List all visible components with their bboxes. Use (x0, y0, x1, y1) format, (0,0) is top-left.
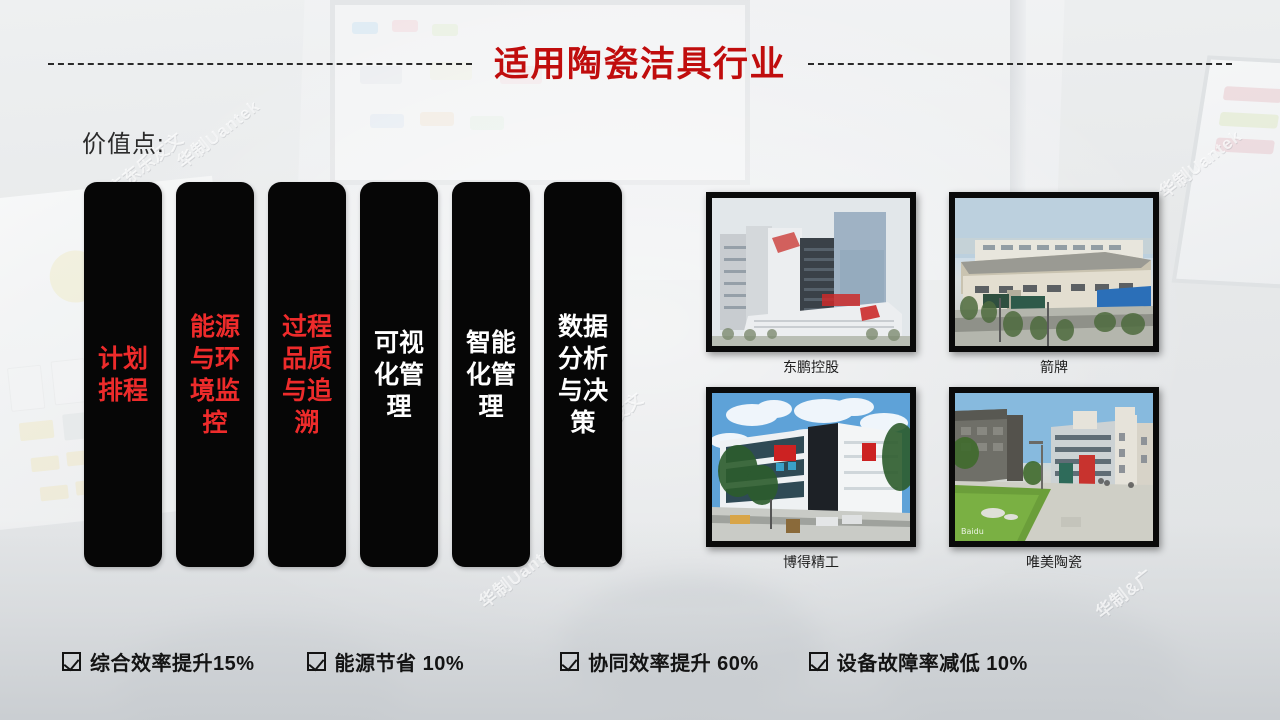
slide-root: 华制Uantek 广东乐友文 华制Uantek 广东乐友文 华制&广 华制Uan… (0, 0, 1280, 720)
value-pillar-list: 计划排程 能源与环境监控 过程品质与追溯 可视化管理 智能化管理 数据分析与决策 (84, 182, 644, 567)
customer-photo-caption: 箭牌 (949, 357, 1159, 377)
customer-photo-cell[interactable]: 博得精工 (706, 387, 916, 572)
benefits-row: 综合效率提升15% 能源节省 10% 协同效率提升 60% 设备故障率减低 10… (0, 647, 1280, 676)
check-icon[interactable] (560, 652, 579, 671)
benefit-item[interactable]: 能源节省 10% (307, 647, 465, 676)
header-rule-left (48, 63, 472, 65)
check-icon[interactable] (809, 652, 828, 671)
baidu-watermark: Baidu (961, 527, 984, 536)
benefit-label: 设备故障率减低 10% (837, 647, 1028, 676)
value-pillar[interactable]: 可视化管理 (360, 182, 438, 567)
benefit-item[interactable]: 综合效率提升15% (62, 647, 255, 676)
check-icon[interactable] (62, 652, 81, 671)
customer-photo-caption: 东鹏控股 (706, 357, 916, 377)
customer-photo-grid: 东鹏控股 (706, 192, 1168, 572)
benefit-item[interactable]: 设备故障率减低 10% (809, 647, 1028, 676)
benefit-item[interactable]: 协同效率提升 60% (560, 647, 759, 676)
customer-photo (949, 192, 1159, 352)
value-pillar[interactable]: 计划排程 (84, 182, 162, 567)
value-pillar-label: 可视化管理 (371, 327, 427, 423)
slide-header: 适用陶瓷洁具行业 (0, 36, 1280, 92)
customer-photo-caption: 博得精工 (706, 552, 916, 572)
customer-photo (706, 192, 916, 352)
benefit-label: 协同效率提升 60% (588, 647, 759, 676)
value-pillar[interactable]: 数据分析与决策 (544, 182, 622, 567)
value-pillar-label: 能源与环境监控 (187, 311, 243, 439)
benefit-label: 综合效率提升15% (90, 647, 255, 676)
customer-photo-caption: 唯美陶瓷 (949, 552, 1159, 572)
value-pillar-label: 数据分析与决策 (555, 311, 611, 439)
customer-photo-cell[interactable]: 箭牌 (949, 192, 1159, 377)
header-rule-right (808, 63, 1232, 65)
page-title: 适用陶瓷洁具行业 (472, 47, 808, 82)
value-pillar-label: 智能化管理 (463, 327, 519, 423)
customer-photo (706, 387, 916, 547)
value-pillar[interactable]: 过程品质与追溯 (268, 182, 346, 567)
value-pillar-label: 过程品质与追溯 (279, 311, 335, 439)
value-pillar[interactable]: 智能化管理 (452, 182, 530, 567)
value-pillar[interactable]: 能源与环境监控 (176, 182, 254, 567)
check-icon[interactable] (307, 652, 326, 671)
benefit-label: 能源节省 10% (335, 647, 465, 676)
customer-photo-cell[interactable]: 东鹏控股 (706, 192, 916, 377)
value-pillar-label: 计划排程 (95, 343, 151, 407)
value-point-label: 价值点: (82, 124, 165, 159)
customer-photo-cell[interactable]: Baidu 唯美陶瓷 (949, 387, 1159, 572)
customer-photo: Baidu (949, 387, 1159, 547)
